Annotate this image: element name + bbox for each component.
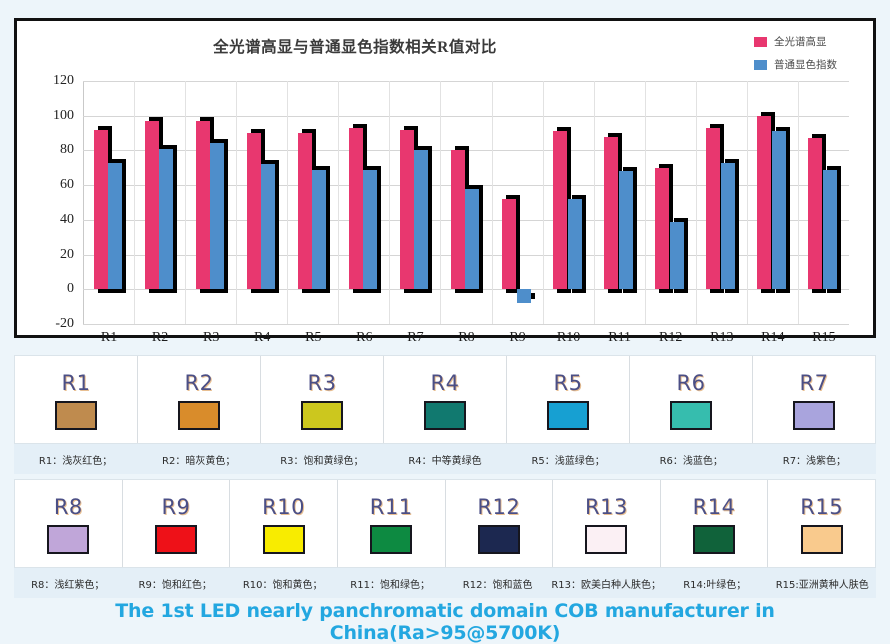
swatch-code-label: R5: [554, 373, 583, 394]
swatch-card-r12[interactable]: R12: [446, 480, 554, 567]
bar-r4-series-2: [261, 164, 275, 289]
swatch-code-label: R13: [585, 497, 628, 518]
bar-r6-series-1: [349, 128, 363, 289]
bar-group-r1: R1: [84, 81, 135, 324]
color-swatch-r13: [585, 525, 627, 554]
swatch-code-label: R3: [308, 373, 337, 394]
swatch-caption-r9: R9：饱和红色；: [121, 576, 228, 591]
color-swatch-r12: [478, 525, 520, 554]
bar-face: [196, 121, 210, 289]
bar-face: [517, 289, 531, 303]
swatch-caption-r3: R3：饱和黄绿色；: [260, 452, 383, 467]
swatch-card-r9[interactable]: R9: [123, 480, 231, 567]
swatch-captions: R8：浅红紫色；R9：饱和红色；R10：饱和黄色；R11：饱和绿色；R12：饱和…: [14, 568, 876, 598]
bar-r10-series-2: [568, 199, 582, 289]
swatch-caption-r12: R12：饱和蓝色: [444, 576, 551, 591]
bar-r14-series-2: [772, 131, 786, 289]
bar-group-r7: R7: [390, 81, 441, 324]
bar-face: [261, 164, 275, 289]
bar-r14-series-1: [757, 116, 771, 290]
gridline: [83, 324, 849, 325]
x-axis-tick-label: R7: [390, 330, 440, 346]
bar-group-r5: R5: [288, 81, 339, 324]
swatch-code-label: R6: [677, 373, 706, 394]
bar-face: [145, 121, 159, 289]
color-swatch-r9: [155, 525, 197, 554]
bar-group-r9: R9: [493, 81, 544, 324]
bar-face: [808, 138, 822, 289]
chart-panel: 全光谱高显与普通显色指数相关R值对比 全光谱高显 普通显色指数 12010080…: [14, 18, 876, 338]
bar-r1-series-2: [108, 163, 122, 290]
swatch-code-label: R12: [477, 497, 520, 518]
bar-r13-series-1: [706, 128, 720, 289]
swatch-code-label: R1: [62, 373, 91, 394]
bar-face: [465, 189, 479, 290]
bar-r11-series-1: [604, 137, 618, 290]
swatch-caption-r4: R4：中等黄绿色: [383, 452, 506, 467]
swatch-cards: R1R2R3R4R5R6R7: [14, 355, 876, 444]
color-swatch-r15: [801, 525, 843, 554]
y-axis-tick-label: 0: [67, 281, 74, 297]
swatch-card-r5[interactable]: R5: [507, 356, 630, 443]
x-axis-tick-label: R14: [748, 330, 798, 346]
bar-r15-series-2: [823, 170, 837, 290]
y-axis-tick-label: 120: [53, 73, 74, 89]
bar-face: [400, 130, 414, 290]
bar-face: [349, 128, 363, 289]
bar-r1-series-1: [94, 130, 108, 290]
color-swatch-r7: [793, 401, 835, 430]
swatch-card-r6[interactable]: R6: [630, 356, 753, 443]
bar-r15-series-1: [808, 138, 822, 289]
bar-group-r13: R13: [697, 81, 748, 324]
y-axis-tick-label: 60: [60, 177, 74, 193]
swatch-captions: R1：浅灰红色；R2：暗灰黄色；R3：饱和黄绿色；R4：中等黄绿色R5：浅蓝绿色…: [14, 444, 876, 474]
swatch-code-label: R15: [800, 497, 843, 518]
bar-r2-series-1: [145, 121, 159, 289]
x-axis-tick-label: R6: [339, 330, 389, 346]
y-axis-tick-label: 40: [60, 212, 74, 228]
bar-face: [757, 116, 771, 290]
swatch-card-r14[interactable]: R14: [661, 480, 769, 567]
bar-group-r10: R10: [544, 81, 595, 324]
chart-legend: 全光谱高显 普通显色指数: [754, 34, 837, 72]
swatch-code-label: R7: [800, 373, 829, 394]
bar-r5-series-1: [298, 133, 312, 289]
x-axis-tick-label: R1: [84, 330, 134, 346]
x-axis-tick-label: R5: [288, 330, 338, 346]
color-swatch-r2: [178, 401, 220, 430]
swatch-code-label: R9: [161, 497, 190, 518]
swatch-caption-r6: R6：浅蓝色；: [630, 452, 753, 467]
swatch-code-label: R2: [185, 373, 214, 394]
legend-label: 全光谱高显: [774, 34, 827, 49]
y-axis-tick-label: 100: [53, 108, 74, 124]
swatch-caption-r15: R15:亚洲黄种人肤色: [769, 576, 876, 591]
color-swatch-r6: [670, 401, 712, 430]
swatch-caption-r2: R2：暗灰黄色；: [137, 452, 260, 467]
swatch-code-label: R11: [370, 497, 413, 518]
swatch-card-r13[interactable]: R13: [553, 480, 661, 567]
swatch-caption-r14: R14:叶绿色；: [661, 576, 768, 591]
bar-face: [247, 133, 261, 289]
bar-r8-series-2: [465, 189, 479, 290]
chart-title: 全光谱高显与普通显色指数相关R值对比: [17, 35, 873, 57]
swatch-code-label: R8: [54, 497, 83, 518]
swatch-code-label: R10: [262, 497, 305, 518]
swatch-caption-r7: R7：浅紫色；: [753, 452, 876, 467]
footer-caption: The 1st LED nearly panchromatic domain C…: [0, 600, 890, 644]
bar-group-r12: R12: [646, 81, 697, 324]
swatch-caption-r8: R8：浅红紫色；: [14, 576, 121, 591]
bar-group-r11: R11: [595, 81, 646, 324]
bar-face: [619, 171, 633, 289]
legend-item-series-1: 全光谱高显: [754, 34, 837, 49]
color-swatch-r5: [547, 401, 589, 430]
swatch-caption-r10: R10：饱和黄色；: [229, 576, 336, 591]
swatch-card-r3[interactable]: R3: [261, 356, 384, 443]
bar-r3-series-2: [210, 143, 224, 289]
bar-r13-series-2: [721, 163, 735, 290]
bar-r2-series-2: [159, 149, 173, 290]
bar-group-r3: R3: [186, 81, 237, 324]
x-axis-tick-label: R3: [186, 330, 236, 346]
legend-color-chip: [754, 37, 767, 47]
x-axis-tick-label: R11: [595, 330, 645, 346]
bar-r9-series-2: [517, 289, 531, 303]
swatch-card-r10[interactable]: R10: [230, 480, 338, 567]
bar-group-r8: R8: [441, 81, 492, 324]
bar-r3-series-1: [196, 121, 210, 289]
bar-face: [553, 131, 567, 289]
x-axis-tick-label: R15: [799, 330, 849, 346]
bar-r10-series-1: [553, 131, 567, 289]
bar-face: [772, 131, 786, 289]
swatch-caption-r11: R11：饱和绿色；: [336, 576, 443, 591]
bar-group-r6: R6: [339, 81, 390, 324]
x-axis-tick-label: R4: [237, 330, 287, 346]
bar-r4-series-1: [247, 133, 261, 289]
swatch-card-r2[interactable]: R2: [138, 356, 261, 443]
bar-face: [721, 163, 735, 290]
bar-face: [706, 128, 720, 289]
bar-group-r2: R2: [135, 81, 186, 324]
bar-group-r14: R14: [748, 81, 799, 324]
bar-face: [823, 170, 837, 290]
swatch-card-r15[interactable]: R15: [768, 480, 875, 567]
bar-face: [94, 130, 108, 290]
bar-face: [655, 168, 669, 290]
legend-item-series-2: 普通显色指数: [754, 57, 837, 72]
bar-groups: R1R2R3R4R5R6R7R8R9R10R11R12R13R14R15: [84, 81, 849, 324]
color-swatch-r14: [693, 525, 735, 554]
bar-group-r15: R15: [799, 81, 849, 324]
swatch-card-r7[interactable]: R7: [753, 356, 875, 443]
swatch-card-r4[interactable]: R4: [384, 356, 507, 443]
x-axis-tick-label: R2: [135, 330, 185, 346]
bar-r7-series-2: [414, 150, 428, 289]
bar-r6-series-2: [363, 170, 377, 290]
color-swatch-r10: [263, 525, 305, 554]
plot-area: 120100806040200-20 R1R2R3R4R5R6R7R8R9R10…: [83, 81, 849, 324]
swatch-caption-r1: R1：浅灰红色；: [14, 452, 137, 467]
swatch-row-1: R1R2R3R4R5R6R7 R1：浅灰红色；R2：暗灰黄色；R3：饱和黄绿色；…: [14, 355, 876, 474]
x-axis-tick-label: R12: [646, 330, 696, 346]
color-swatch-r8: [47, 525, 89, 554]
color-swatch-r1: [55, 401, 97, 430]
y-axis-tick-label: -20: [55, 316, 74, 332]
bar-r9-series-1: [502, 199, 516, 289]
swatch-code-label: R14: [693, 497, 736, 518]
bar-r11-series-2: [619, 171, 633, 289]
color-swatch-r3: [301, 401, 343, 430]
bar-face: [568, 199, 582, 289]
y-axis-tick-label: 20: [60, 247, 74, 263]
y-axis-tick-label: 80: [60, 142, 74, 158]
bar-face: [108, 163, 122, 290]
bar-r12-series-1: [655, 168, 669, 290]
x-axis-tick-label: R8: [441, 330, 491, 346]
x-axis-tick-label: R13: [697, 330, 747, 346]
bar-r12-series-2: [670, 222, 684, 290]
bar-face: [502, 199, 516, 289]
legend-label: 普通显色指数: [774, 57, 837, 72]
x-axis-tick-label: R10: [544, 330, 594, 346]
bar-face: [451, 150, 465, 289]
legend-color-chip: [754, 60, 767, 70]
swatch-cards: R8R9R10R11R12R13R14R15: [14, 479, 876, 568]
swatch-row-2: R8R9R10R11R12R13R14R15 R8：浅红紫色；R9：饱和红色；R…: [14, 479, 876, 598]
bar-group-r4: R4: [237, 81, 288, 324]
color-swatch-r11: [370, 525, 412, 554]
bar-face: [363, 170, 377, 290]
bar-face: [298, 133, 312, 289]
swatch-card-r11[interactable]: R11: [338, 480, 446, 567]
bar-r7-series-1: [400, 130, 414, 290]
bar-r5-series-2: [312, 170, 326, 290]
bar-face: [604, 137, 618, 290]
bar-face: [210, 143, 224, 289]
bar-face: [159, 149, 173, 290]
swatch-caption-r5: R5：浅蓝绿色；: [507, 452, 630, 467]
bar-face: [670, 222, 684, 290]
swatch-card-r8[interactable]: R8: [15, 480, 123, 567]
bar-face: [312, 170, 326, 290]
swatch-code-label: R4: [431, 373, 460, 394]
bar-r8-series-1: [451, 150, 465, 289]
swatch-caption-r13: R13：欧美白种人肤色；: [551, 576, 661, 591]
swatch-card-r1[interactable]: R1: [15, 356, 138, 443]
color-swatch-r4: [424, 401, 466, 430]
x-axis-tick-label: R9: [493, 330, 543, 346]
bar-face: [414, 150, 428, 289]
